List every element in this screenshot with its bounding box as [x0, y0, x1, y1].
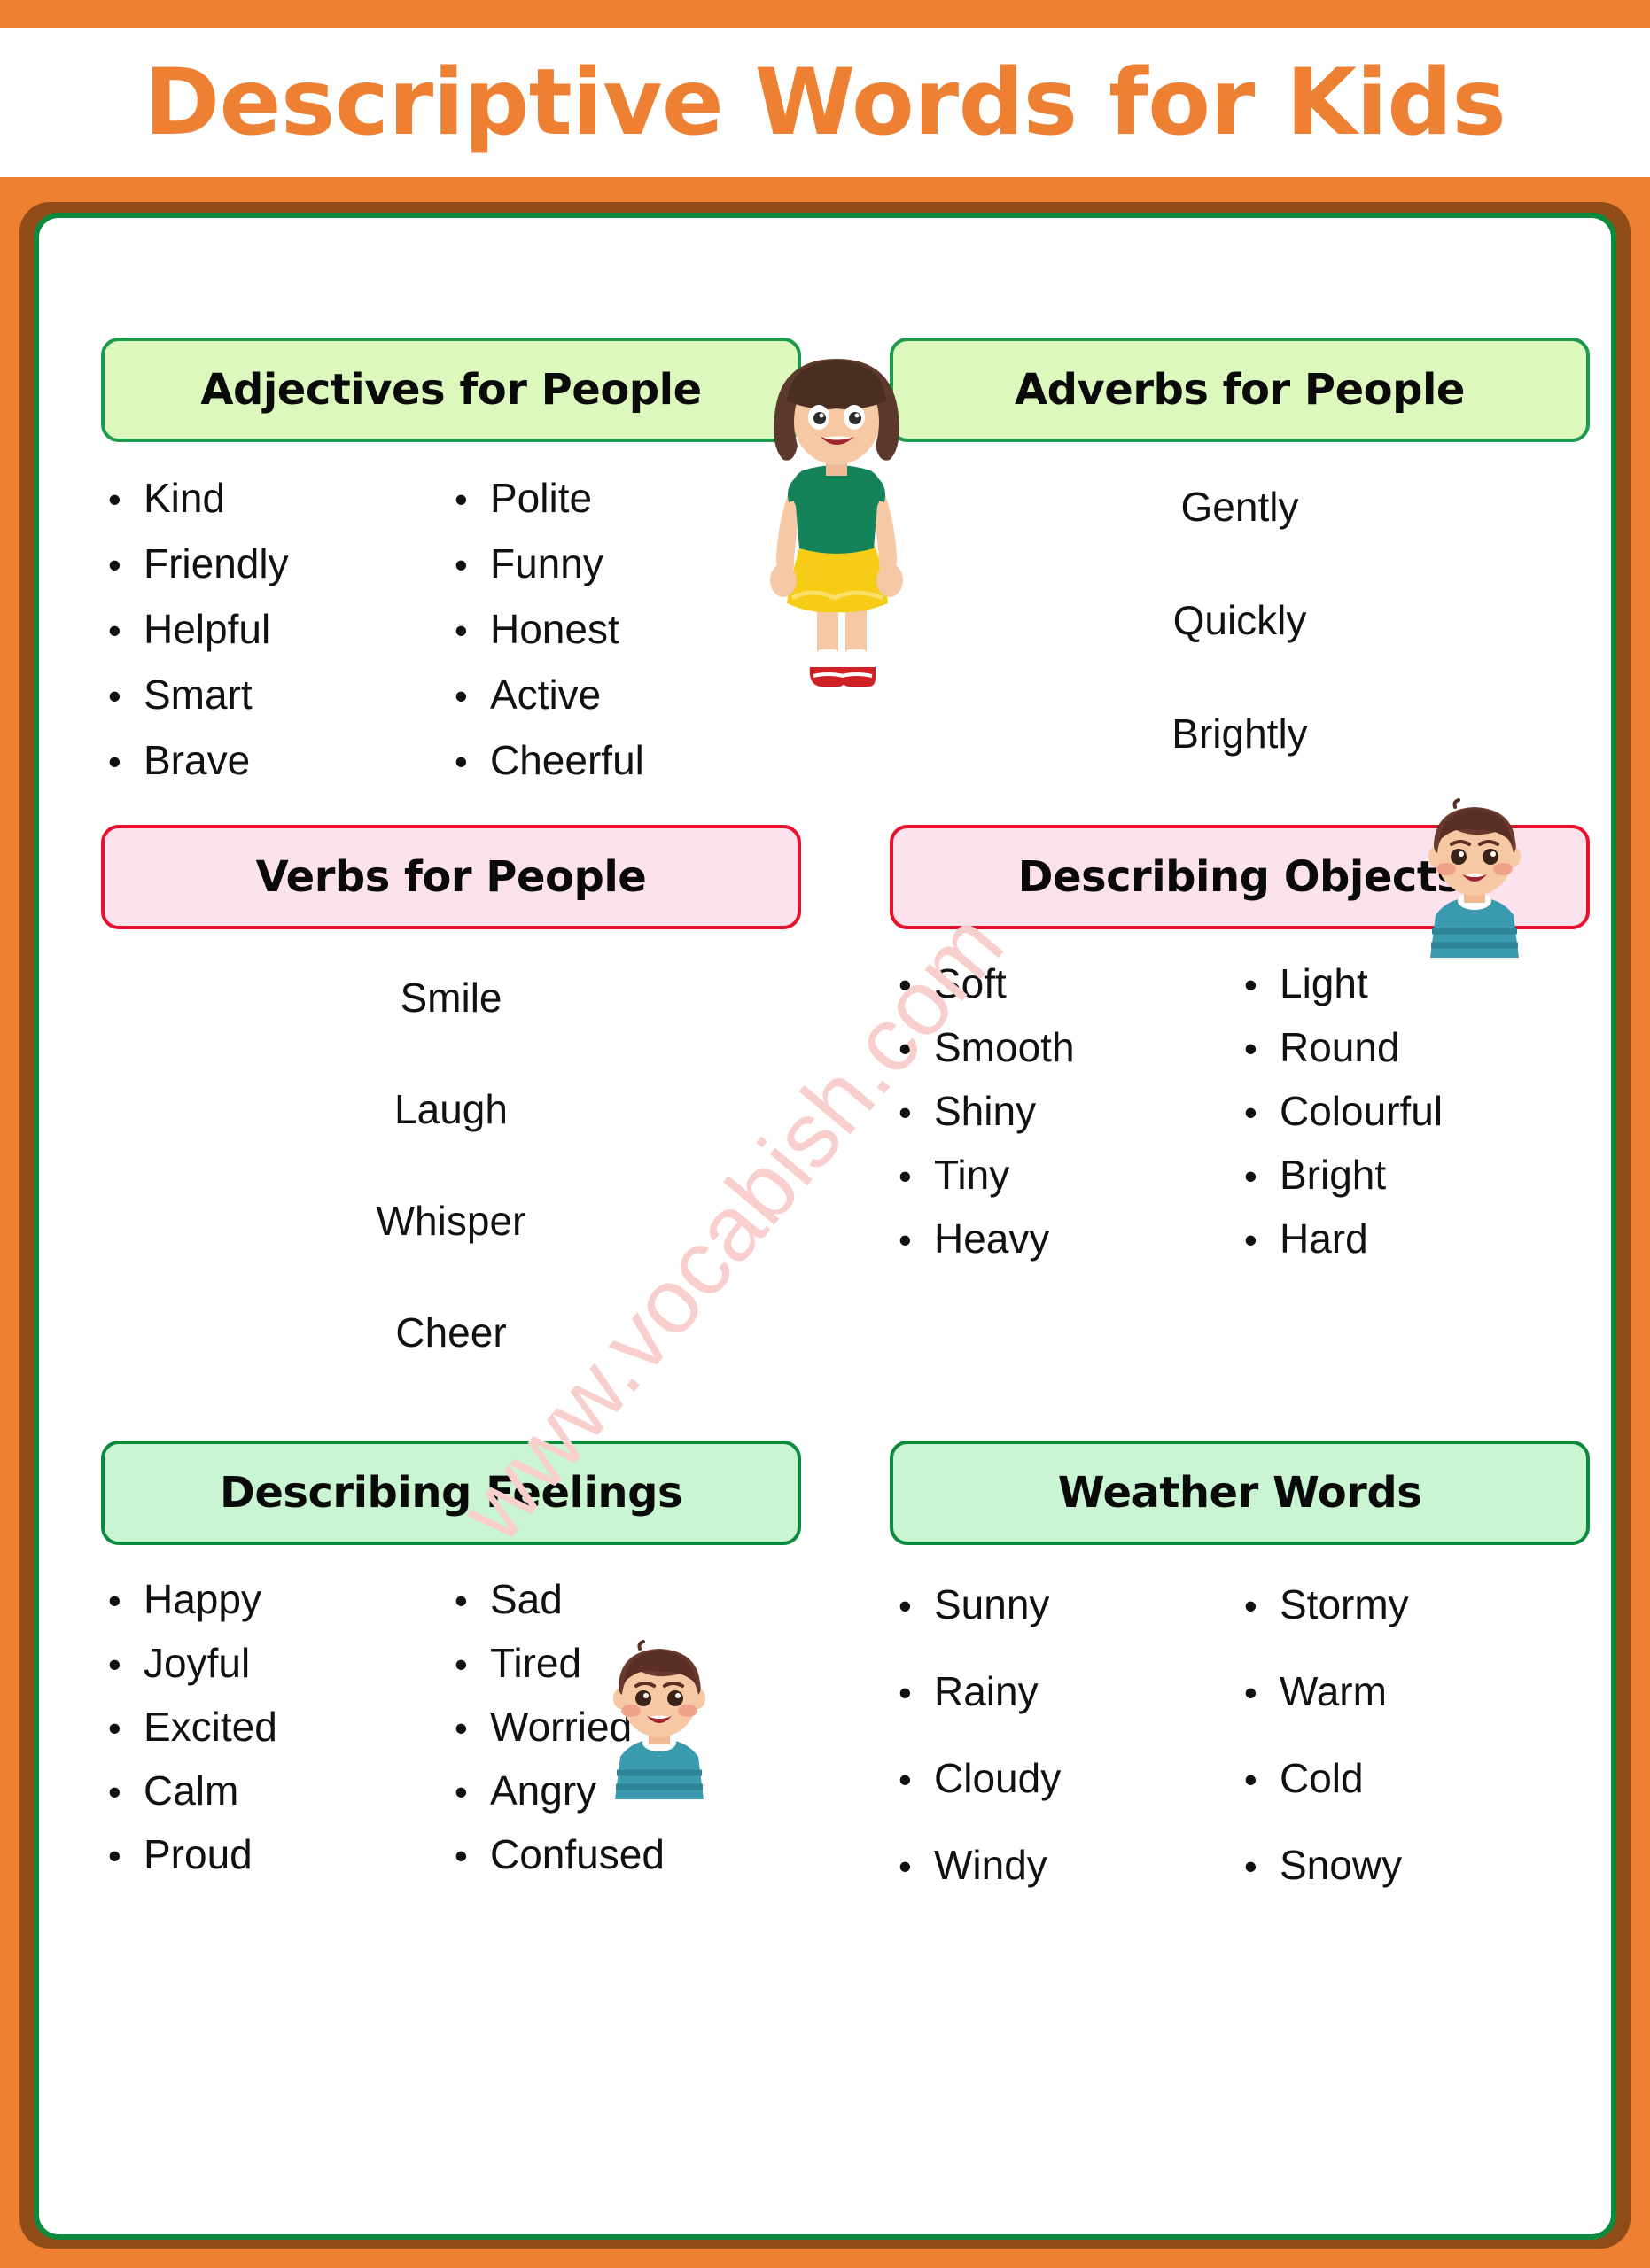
word-label: Honest [490, 605, 619, 653]
bullet-icon: • [899, 1094, 934, 1131]
word-label: Smooth [934, 1023, 1075, 1071]
section-title-adjectives: Adjectives for People [200, 368, 701, 412]
word-label: Smart [144, 671, 253, 718]
list-item: Whisper [101, 1197, 801, 1245]
bullet-icon: • [899, 1030, 934, 1068]
bullet-icon: • [108, 1582, 144, 1619]
list-item: •Colourful [1244, 1087, 1590, 1135]
section-title-adverbs: Adverbs for People [1015, 368, 1465, 412]
section-header-weather: Weather Words [890, 1441, 1590, 1545]
bullet-icon: • [1244, 1761, 1280, 1798]
list-item: Gently [890, 483, 1590, 531]
list-item: •Light [1244, 959, 1590, 1007]
word-list-verbs: Smile Laugh Whisper Cheer [101, 974, 801, 1356]
list-item: •Smart [108, 671, 455, 718]
bullet-icon: • [108, 1774, 144, 1811]
bullet-icon: • [455, 1837, 490, 1875]
section-adverbs-for-people: Adverbs for People Gently Quickly Bright… [890, 338, 1590, 871]
word-label: Heavy [934, 1215, 1049, 1262]
list-item: •Kind [108, 474, 455, 522]
bullet-icon: • [1244, 1848, 1280, 1885]
bullet-icon: • [1244, 1158, 1280, 1195]
word-label: Active [490, 671, 601, 718]
list-item: •Cheerful [455, 736, 801, 784]
section-verbs-for-people: Verbs for People Smile Laugh Whisper Che… [101, 825, 801, 1356]
bullet-icon: • [455, 678, 490, 715]
word-label: Cheerful [490, 736, 644, 784]
word-label: Snowy [1280, 1841, 1402, 1889]
section-title-verbs: Verbs for People [256, 855, 647, 899]
bullet-icon: • [1244, 1588, 1280, 1625]
list-item: •Shiny [899, 1087, 1244, 1135]
feelings-column-1: •Happy •Joyful •Excited •Calm •Proud [101, 1575, 455, 1878]
list-item: •Bright [1244, 1151, 1590, 1199]
list-item: •Rainy [899, 1667, 1244, 1715]
word-label: Brave [144, 736, 250, 784]
bullet-icon: • [899, 1588, 934, 1625]
word-label: Angry [490, 1767, 596, 1814]
word-label: Shiny [934, 1087, 1036, 1135]
word-label: Sunny [934, 1581, 1049, 1628]
list-item: •Tiny [899, 1151, 1244, 1199]
bullet-icon: • [899, 1222, 934, 1259]
bullet-icon: • [455, 1774, 490, 1811]
word-label: Stormy [1280, 1581, 1409, 1628]
section-header-adverbs: Adverbs for People [890, 338, 1590, 442]
bullet-icon: • [899, 1674, 934, 1712]
word-label: Windy [934, 1841, 1047, 1889]
list-item: •Happy [108, 1575, 455, 1623]
section-header-adjectives: Adjectives for People [101, 338, 801, 442]
list-item: Laugh [101, 1085, 801, 1133]
bullet-icon: • [108, 1710, 144, 1747]
list-item: Brightly [890, 710, 1590, 757]
list-item: •Proud [108, 1830, 455, 1878]
section-adjectives-for-people: Adjectives for People •Kind •Friendly •H… [101, 338, 801, 784]
word-label: Friendly [144, 540, 289, 587]
bullet-icon: • [899, 967, 934, 1004]
word-label: Calm [144, 1767, 238, 1814]
list-item: •Friendly [108, 540, 455, 587]
word-list-adjectives: •Kind •Friendly •Helpful •Smart •Brave [101, 474, 801, 784]
list-item: •Round [1244, 1023, 1590, 1071]
boy-character-right [1404, 798, 1545, 958]
bullet-icon: • [108, 547, 144, 584]
section-header-verbs: Verbs for People [101, 825, 801, 929]
girl-character [739, 346, 934, 701]
bullet-icon: • [1244, 1222, 1280, 1259]
word-list-objects: •Soft •Smooth •Shiny •Tiny •Heavy [890, 959, 1590, 1262]
section-title-weather: Weather Words [1058, 1471, 1422, 1515]
list-item: •Warm [1244, 1667, 1590, 1715]
word-label: Cloudy [934, 1754, 1061, 1802]
word-label: Funny [490, 540, 603, 587]
bullet-icon: • [108, 612, 144, 649]
word-label: Warm [1280, 1667, 1387, 1715]
objects-column-2: •Light •Round •Colourful •Bright •Hard [1244, 959, 1590, 1262]
word-label: Tired [490, 1639, 581, 1687]
adjectives-column-1: •Kind •Friendly •Helpful •Smart •Brave [101, 474, 455, 784]
section-title-objects: Describing Objects [1018, 855, 1462, 899]
list-item: Quickly [890, 596, 1590, 644]
list-item: •Joyful [108, 1639, 455, 1687]
bullet-icon: • [108, 1646, 144, 1683]
word-label: Soft [934, 959, 1007, 1007]
page-title: Descriptive Words for Kids [144, 58, 1506, 149]
word-label: Rainy [934, 1667, 1039, 1715]
list-item: •Smooth [899, 1023, 1244, 1071]
bullet-icon: • [899, 1761, 934, 1798]
word-label: Kind [144, 474, 225, 522]
list-item: •Snowy [1244, 1841, 1590, 1889]
list-item: •Sad [455, 1575, 801, 1623]
word-label: Excited [144, 1703, 277, 1751]
word-list-weather: •Sunny •Rainy •Cloudy •Windy [890, 1581, 1590, 1889]
word-label: Happy [144, 1575, 261, 1623]
list-item: •Cold [1244, 1754, 1590, 1802]
list-item: •Stormy [1244, 1581, 1590, 1628]
list-item: Cheer [101, 1309, 801, 1356]
section-title-feelings: Describing Feelings [220, 1471, 682, 1515]
bullet-icon: • [108, 1837, 144, 1875]
word-label: Proud [144, 1830, 253, 1878]
word-label: Sad [490, 1575, 563, 1623]
word-label: Light [1280, 959, 1368, 1007]
list-item: •Windy [899, 1841, 1244, 1889]
word-label: Hard [1280, 1215, 1368, 1262]
weather-column-1: •Sunny •Rainy •Cloudy •Windy [890, 1581, 1244, 1889]
bullet-icon: • [455, 547, 490, 584]
list-item: •Calm [108, 1767, 455, 1814]
bullet-icon: • [899, 1848, 934, 1885]
weather-column-2: •Stormy •Warm •Cold •Snowy [1244, 1581, 1590, 1889]
section-header-feelings: Describing Feelings [101, 1441, 801, 1545]
bullet-icon: • [455, 1710, 490, 1747]
objects-column-1: •Soft •Smooth •Shiny •Tiny •Heavy [890, 959, 1244, 1262]
list-item: •Excited [108, 1703, 455, 1751]
bullet-icon: • [899, 1158, 934, 1195]
bullet-icon: • [1244, 1674, 1280, 1712]
bullet-icon: • [455, 481, 490, 518]
bullet-icon: • [1244, 1094, 1280, 1131]
word-label: Tiny [934, 1151, 1009, 1199]
bullet-icon: • [455, 743, 490, 781]
bullet-icon: • [108, 678, 144, 715]
word-label: Colourful [1280, 1087, 1443, 1135]
content-card: www.vocabish.com Adjectives for People •… [34, 213, 1616, 2240]
list-item: Smile [101, 974, 801, 1021]
word-label: Helpful [144, 605, 270, 653]
list-item: •Sunny [899, 1581, 1244, 1628]
bullet-icon: • [1244, 1030, 1280, 1068]
list-item: •Hard [1244, 1215, 1590, 1262]
list-item: •Brave [108, 736, 455, 784]
list-item: •Confused [455, 1830, 801, 1878]
word-label: Polite [490, 474, 592, 522]
bullet-icon: • [108, 743, 144, 781]
poster-root: Descriptive Words for Kids www.vocabish.… [0, 0, 1650, 2268]
list-item: •Cloudy [899, 1754, 1244, 1802]
bullet-icon: • [1244, 967, 1280, 1004]
list-item: •Heavy [899, 1215, 1244, 1262]
word-label: Confused [490, 1830, 665, 1878]
word-label: Round [1280, 1023, 1400, 1071]
list-item: •Helpful [108, 605, 455, 653]
bullet-icon: • [455, 612, 490, 649]
bullet-icon: • [455, 1582, 490, 1619]
list-item: •Soft [899, 959, 1244, 1007]
sections-grid: Adjectives for People •Kind •Friendly •H… [39, 218, 1611, 2234]
boy-character-center [588, 1640, 730, 1799]
bullet-icon: • [455, 1646, 490, 1683]
word-label: Joyful [144, 1639, 250, 1687]
word-label: Cold [1280, 1754, 1364, 1802]
section-weather-words: Weather Words •Sunny •Rainy •Cloudy [890, 1441, 1590, 1889]
title-band: Descriptive Words for Kids [0, 28, 1650, 177]
word-label: Bright [1280, 1151, 1386, 1199]
bullet-icon: • [108, 481, 144, 518]
